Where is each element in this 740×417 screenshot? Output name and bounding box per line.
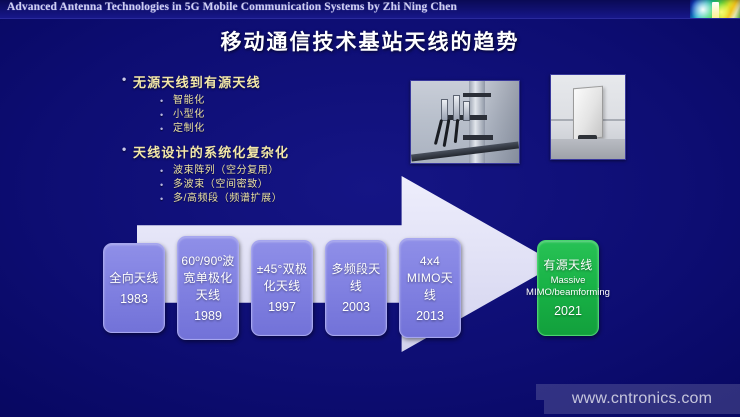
feed-cable-1 — [434, 119, 443, 145]
sub-bullet-list-1: • 波束阵列（空分复用） • 多波束（空间密致） • 多/高频段（频谱扩展） — [122, 164, 289, 206]
timeline-box-2-label: ±45°双极化天线 — [255, 261, 309, 295]
sub-bullet-label-0-2: 定制化 — [173, 122, 205, 136]
timeline-box-0[interactable]: 全向天线 1983 — [103, 243, 165, 333]
sub-bullet-marker-icon: • — [160, 108, 173, 122]
sub-bullet-label-0-0: 智能化 — [173, 94, 205, 108]
timeline-box-2-year: 1997 — [268, 299, 296, 315]
sub-bullet-list-0: • 智能化 • 小型化 • 定制化 — [122, 94, 261, 136]
em-simulation-thumbnail-icon — [690, 0, 740, 19]
bullet-group-passive-to-active: • 无源天线到有源天线 • 智能化 • 小型化 • 定制化 — [122, 72, 261, 136]
watermark: www.cntronics.com — [544, 384, 740, 414]
bullet-group-system-complexity: • 天线设计的系统化复杂化 • 波束阵列（空分复用） • 多波束（空间密致） •… — [122, 142, 289, 206]
timeline-box-1[interactable]: 60º/90º波宽单极化天线 1989 — [177, 236, 239, 340]
timeline-box-4-label: 4x4 MIMO天线 — [403, 253, 457, 304]
watermark-text: www.cntronics.com — [572, 390, 712, 408]
bullet-marker-icon: • — [122, 142, 133, 157]
sub-bullet-1-2: • 多/高频段（频谱扩展） — [160, 192, 289, 206]
slide-title: 移动通信技术基站天线的趋势 — [0, 26, 740, 56]
whip-antenna-2 — [453, 95, 460, 121]
sub-bullet-0-1: • 小型化 — [160, 108, 261, 122]
feed-cable-3 — [454, 119, 459, 143]
sub-bullet-marker-icon: • — [160, 192, 173, 206]
tower-arm-top — [463, 93, 491, 97]
sub-bullet-marker-icon: • — [160, 164, 173, 178]
slide-header-bar: Advanced Antenna Technologies in 5G Mobi… — [0, 0, 740, 19]
timeline-box-5-label: 有源天线 — [543, 257, 592, 274]
antenna-tower-photo — [410, 80, 520, 164]
timeline-box-3-label: 多频段天线 — [329, 261, 383, 295]
tower-rail — [411, 141, 519, 161]
sub-bullet-marker-icon: • — [160, 94, 173, 108]
timeline-box-3[interactable]: 多频段天线 2003 — [325, 240, 387, 336]
timeline-box-2[interactable]: ±45°双极化天线 1997 — [251, 240, 313, 336]
sub-bullet-label-0-1: 小型化 — [173, 108, 205, 122]
timeline-box-0-label: 全向天线 — [109, 270, 158, 287]
sub-bullet-1-0: • 波束阵列（空分复用） — [160, 164, 289, 178]
bullet-main-label-0: 无源天线到有源天线 — [133, 72, 261, 91]
presentation-slide: Advanced Antenna Technologies in 5G Mobi… — [0, 0, 740, 417]
panel-floor — [551, 139, 625, 159]
sub-bullet-0-2: • 定制化 — [160, 122, 261, 136]
panel-antenna-photo — [550, 74, 626, 160]
timeline-box-5-year: 2021 — [554, 303, 582, 319]
timeline-box-4-year: 2013 — [416, 308, 444, 324]
tower-arm-lower — [463, 135, 493, 140]
sim-thumb-vertical-element — [712, 2, 719, 19]
watermark-tab — [536, 384, 544, 400]
sub-bullet-label-1-2: 多/高频段（频谱扩展） — [173, 192, 282, 206]
bullet-main-label-1: 天线设计的系统化复杂化 — [133, 142, 289, 161]
timeline-box-0-year: 1983 — [120, 291, 148, 307]
sub-bullet-0-0: • 智能化 — [160, 94, 261, 108]
feed-cable-2 — [443, 119, 451, 147]
presentation-title: Advanced Antenna Technologies in 5G Mobi… — [7, 1, 457, 13]
sub-bullet-1-1: • 多波束（空间密致） — [160, 178, 289, 192]
bullet-marker-icon: • — [122, 72, 133, 87]
timeline-box-5[interactable]: 有源天线 Massive MIMO/beamforming 2021 — [537, 240, 599, 336]
sub-bullet-marker-icon: • — [160, 178, 173, 192]
sub-bullet-label-1-0: 波束阵列（空分复用） — [173, 164, 279, 178]
timeline-box-4[interactable]: 4x4 MIMO天线 2013 — [399, 238, 461, 338]
timeline-box-3-year: 2003 — [342, 299, 370, 315]
whip-antenna-3 — [463, 101, 470, 121]
panel-antenna-body — [573, 86, 603, 141]
bullet-main-0: • 无源天线到有源天线 — [122, 72, 261, 91]
sub-bullet-marker-icon: • — [160, 122, 173, 136]
whip-antenna-1 — [441, 99, 448, 121]
sub-bullet-label-1-1: 多波束（空间密致） — [173, 178, 268, 192]
timeline-box-1-year: 1989 — [194, 308, 222, 324]
timeline-box-5-sublabel: Massive MIMO/beamforming — [526, 275, 610, 299]
timeline-box-1-label: 60º/90º波宽单极化天线 — [181, 253, 235, 304]
bullet-main-1: • 天线设计的系统化复杂化 — [122, 142, 289, 161]
